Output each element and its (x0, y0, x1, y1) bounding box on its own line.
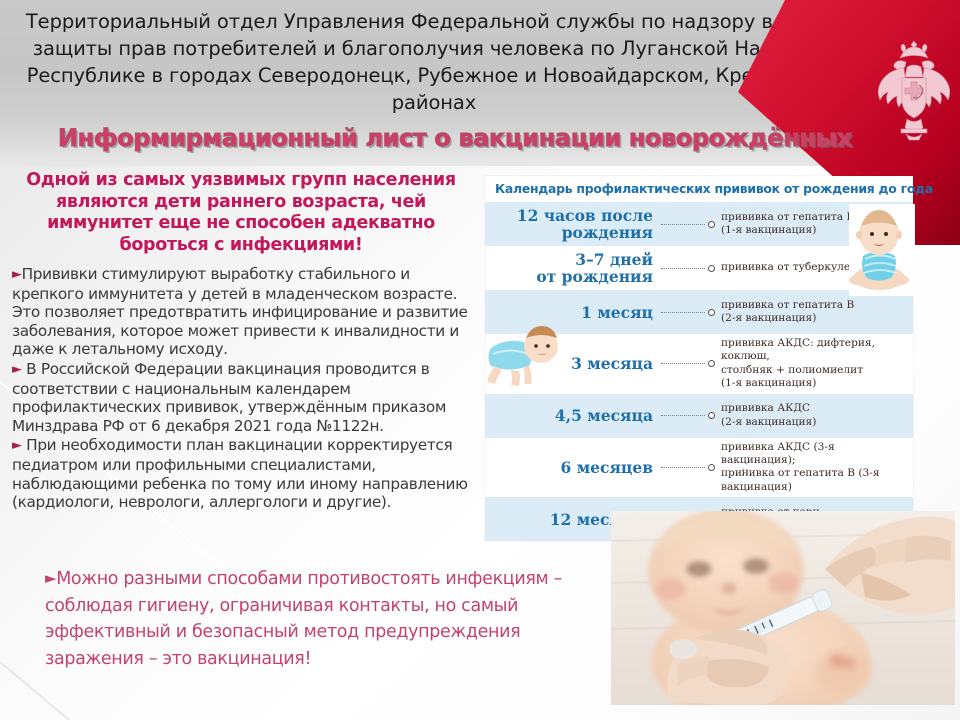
calendar-row-connector-icon (655, 262, 721, 274)
calendar-row-vaccine: прививка АКДС (3-я вакцинация);приអивка … (721, 441, 913, 495)
paragraph-2-text: В Российской Федерации вакцинация провод… (12, 360, 446, 435)
calendar-row-vaccine: прививка АКДС(2-я вакцинация) (721, 402, 913, 429)
bullet-marker-icon: ► (12, 267, 22, 282)
rospotrebnadzor-emblem-icon (873, 38, 955, 142)
calendar-row-vaccine: прививка от гепатита В(2-я вакцинация) (721, 299, 913, 326)
calendar-row-connector-icon (655, 410, 721, 422)
calendar-row: 4,5 месяца прививка АКДС(2-я вакцинация) (485, 394, 913, 438)
calendar-row-age: 1 месяц (485, 304, 655, 321)
calendar-row-vaccine: прививка АКДС: дифтерия, коклюш,столбняк… (721, 337, 913, 391)
crawling-baby-photo (481, 326, 563, 388)
bullet-marker-icon: ► (12, 362, 22, 377)
conclusion-text: Можно разными способами противостоять ин… (45, 569, 562, 669)
sitting-baby-photo (849, 204, 915, 296)
paragraph-3: ► При необходимости план вакцинации корр… (12, 436, 474, 511)
paragraph-1-text: Прививки стимулируют выработку стабильно… (12, 265, 468, 358)
calendar-row-connector-icon (655, 358, 721, 370)
paragraph-1: ►Прививки стимулируют выработку стабильн… (12, 265, 474, 359)
left-text-column: Одной из самых уязвимых групп населения … (8, 170, 474, 512)
calendar-row-connector-icon (655, 306, 721, 318)
calendar-row-age: 6 месяцев (485, 459, 655, 476)
paragraph-2: ► В Российской Федерации вакцинация пров… (12, 360, 474, 435)
poster-title: Информирмационный лист о вакцинации ново… (40, 124, 870, 152)
lead-heading: Одной из самых уязвимых групп населения … (8, 170, 474, 256)
calendar-row: 6 месяцев прививка АКДС (3-я вакцинация)… (485, 438, 913, 498)
conclusion-block: ►Можно разными способами противостоять и… (45, 565, 585, 672)
calendar-row-age: 4,5 месяца (485, 407, 655, 424)
calendar-row-connector-icon (655, 461, 721, 473)
baby-vaccination-syringe-photo (611, 511, 955, 705)
calendar-title: Календарь профилактических прививок от р… (485, 176, 913, 202)
calendar-row-age: 12 часов после рождения (485, 207, 655, 241)
calendar-row-age: 3–7 днейот рождения (485, 251, 655, 285)
bullet-marker-icon: ► (12, 438, 22, 453)
calendar-row-connector-icon (655, 218, 721, 230)
poster-root: Территориальный отдел Управления Федерал… (0, 0, 960, 720)
paragraph-3-text: При необходимости план вакцинации коррек… (12, 436, 468, 511)
vaccination-calendar-panel: Календарь профилактических прививок от р… (485, 176, 913, 541)
bullet-marker-icon: ► (45, 569, 56, 587)
